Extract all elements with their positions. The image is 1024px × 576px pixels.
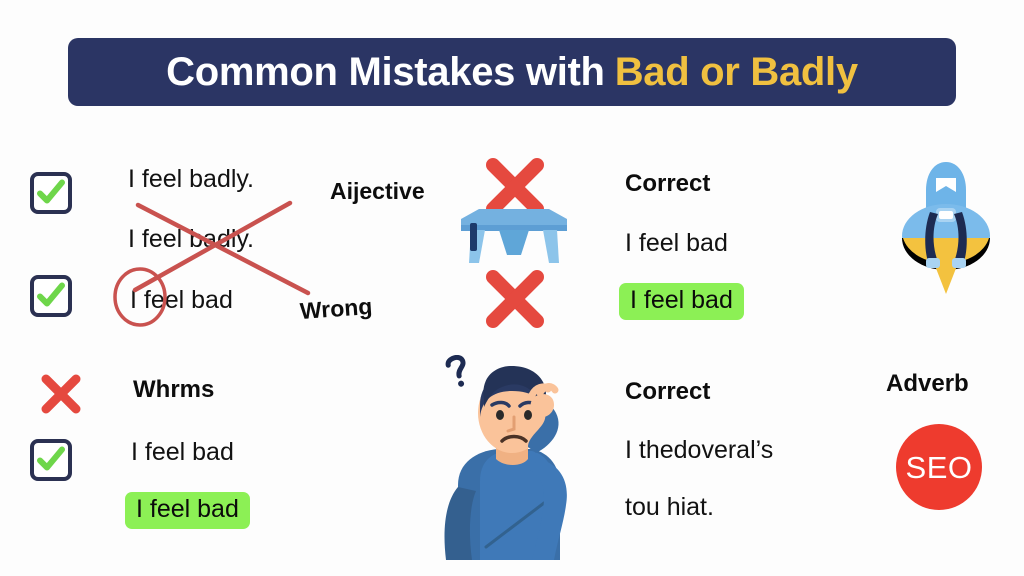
- infographic-canvas: Common Mistakes withBad or Badly I feel …: [0, 0, 1024, 576]
- br-heading: Correct: [625, 380, 710, 404]
- page-title: Common Mistakes withBad or Badly: [166, 52, 858, 92]
- br-sentence-1: I thedoveral’s: [625, 438, 773, 463]
- title-banner: Common Mistakes withBad or Badly: [68, 38, 956, 106]
- check-icon: [34, 176, 68, 210]
- page-title-main: Common Mistakes with: [166, 50, 605, 94]
- bl-heading: Whrms: [133, 378, 214, 402]
- rocket-illustration: [898, 158, 994, 298]
- tl-tag-wrong: Wrong: [299, 295, 373, 323]
- check-icon: [34, 443, 68, 477]
- confused-person-icon: [428, 355, 588, 560]
- checkbox-top-left-2[interactable]: [30, 275, 72, 317]
- rocket-icon: [898, 158, 994, 298]
- tr-sentence-1: I feel bad: [625, 231, 728, 256]
- page-title-accent: Bad or Badly: [615, 50, 858, 94]
- br-tag-adverb: Adverb: [886, 372, 969, 396]
- tr-sentence-2-highlighted: I feel bad: [619, 283, 744, 320]
- desk-illustration: [455, 205, 573, 267]
- tl-sentence-1: I feel badly.: [128, 167, 254, 192]
- tl-sentence-2: I feel badly.: [128, 227, 254, 252]
- checkbox-bottom-left-1[interactable]: [30, 439, 72, 481]
- check-icon: [34, 279, 68, 313]
- seo-badge: SEO: [896, 424, 982, 510]
- checkbox-top-left-1[interactable]: [30, 172, 72, 214]
- seo-badge-label: SEO: [906, 452, 973, 483]
- blue-table-icon: [455, 205, 573, 267]
- tl-tag-adjective: Aijective: [330, 180, 425, 203]
- x-mark-top-middle-2: [482, 268, 548, 330]
- x-icon: [38, 372, 84, 416]
- bl-sentence-2-highlighted: I feel bad: [125, 492, 250, 529]
- question-mark-icon: [447, 356, 469, 389]
- br-sentence-2: tou hiat.: [625, 495, 714, 520]
- confused-person-illustration: [428, 355, 588, 560]
- x-mark-bottom-left: [38, 372, 84, 416]
- tl-sentence-3: I feel bad: [130, 288, 233, 313]
- bl-sentence-1: I feel bad: [131, 440, 234, 465]
- x-icon: [482, 268, 548, 330]
- tr-heading: Correct: [625, 172, 710, 196]
